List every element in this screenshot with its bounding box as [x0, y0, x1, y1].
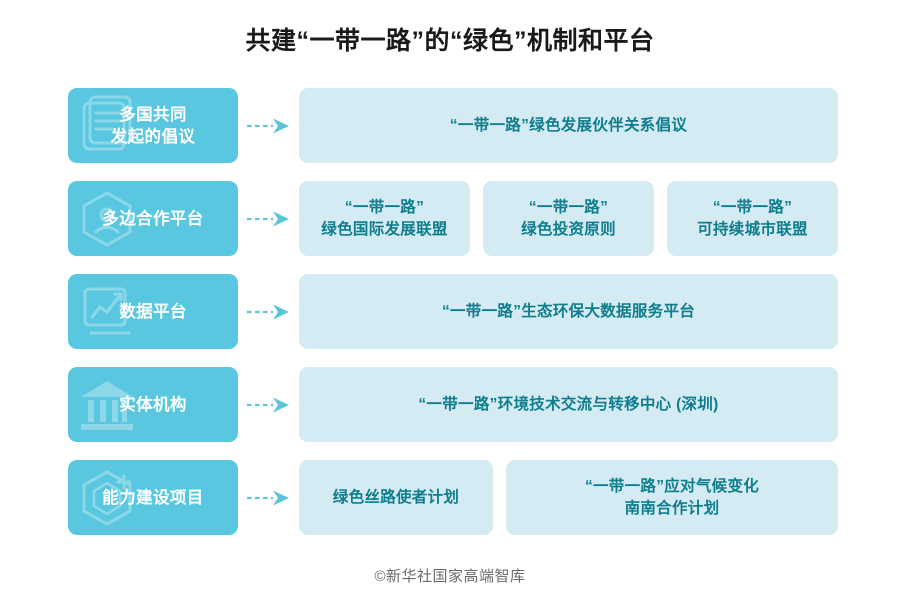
row-initiative: 多国共同 发起的倡议 “一带一路”绿色发展伙伴关系倡议 [0, 88, 900, 163]
category-chip-multilateral-platform[interactable]: 多边合作平台 [68, 181, 238, 256]
card-text: “一带一路”环境技术交流与转移中心 (深圳) [418, 394, 718, 416]
page-title: 共建“一带一路”的“绿色”机制和平台 [0, 24, 900, 58]
dashed-arrow-right-icon [247, 118, 291, 134]
category-label: 能力建设项目 [102, 487, 203, 509]
row-multilateral-platform: 多边合作平台 “一带一路” 绿色国际发展联盟 “一带一路” 绿色投资原则 “一带… [0, 181, 900, 256]
cards-physical-institution: “一带一路”环境技术交流与转移中心 (深圳) [299, 367, 838, 442]
card[interactable]: “一带一路”生态环保大数据服务平台 [299, 274, 838, 349]
category-label: 多国共同 发起的倡议 [111, 104, 196, 148]
dashed-arrow-right-icon [247, 211, 291, 227]
card[interactable]: “一带一路” 可持续城市联盟 [667, 181, 838, 256]
category-label: 实体机构 [119, 394, 187, 416]
row-physical-institution: 实体机构 “一带一路”环境技术交流与转移中心 (深圳) [0, 367, 900, 442]
category-label: 多边合作平台 [102, 208, 203, 230]
card[interactable]: “一带一路”环境技术交流与转移中心 (深圳) [299, 367, 838, 442]
category-chip-initiative[interactable]: 多国共同 发起的倡议 [68, 88, 238, 163]
dashed-arrow-right-icon [247, 490, 291, 506]
card-text: 绿色丝路使者计划 [333, 487, 459, 509]
cards-initiative: “一带一路”绿色发展伙伴关系倡议 [299, 88, 838, 163]
card[interactable]: “一带一路”应对气候变化 南南合作计划 [506, 460, 838, 535]
card[interactable]: “一带一路”绿色发展伙伴关系倡议 [299, 88, 838, 163]
card[interactable]: “一带一路” 绿色投资原则 [483, 181, 654, 256]
card-text: “一带一路” 可持续城市联盟 [697, 197, 808, 241]
card-text: “一带一路”生态环保大数据服务平台 [442, 301, 695, 323]
cards-data-platform: “一带一路”生态环保大数据服务平台 [299, 274, 838, 349]
category-label: 数据平台 [119, 301, 187, 323]
footer-credit: ©新华社国家高端智库 [0, 567, 900, 587]
card[interactable]: 绿色丝路使者计划 [299, 460, 493, 535]
dashed-arrow-right-icon [247, 397, 291, 413]
card[interactable]: “一带一路” 绿色国际发展联盟 [299, 181, 470, 256]
dashed-arrow-right-icon [247, 304, 291, 320]
cards-multilateral-platform: “一带一路” 绿色国际发展联盟 “一带一路” 绿色投资原则 “一带一路” 可持续… [299, 181, 838, 256]
card-text: “一带一路”绿色发展伙伴关系倡议 [450, 115, 687, 137]
rows-container: 多国共同 发起的倡议 “一带一路”绿色发展伙伴关系倡议 [0, 88, 900, 535]
card-text: “一带一路”应对气候变化 南南合作计划 [585, 476, 759, 520]
category-chip-data-platform[interactable]: 数据平台 [68, 274, 238, 349]
card-text: “一带一路” 绿色国际发展联盟 [321, 197, 447, 241]
cards-capacity-building: 绿色丝路使者计划 “一带一路”应对气候变化 南南合作计划 [299, 460, 838, 535]
infographic-page: 共建“一带一路”的“绿色”机制和平台 多国共同 发起的倡议 [0, 0, 900, 607]
row-data-platform: 数据平台 “一带一路”生态环保大数据服务平台 [0, 274, 900, 349]
category-chip-capacity-building[interactable]: 能力建设项目 [68, 460, 238, 535]
row-capacity-building: 能力建设项目 绿色丝路使者计划 “一带一路”应对气候变化 南南合作计划 [0, 460, 900, 535]
card-text: “一带一路” 绿色投资原则 [521, 197, 616, 241]
category-chip-physical-institution[interactable]: 实体机构 [68, 367, 238, 442]
